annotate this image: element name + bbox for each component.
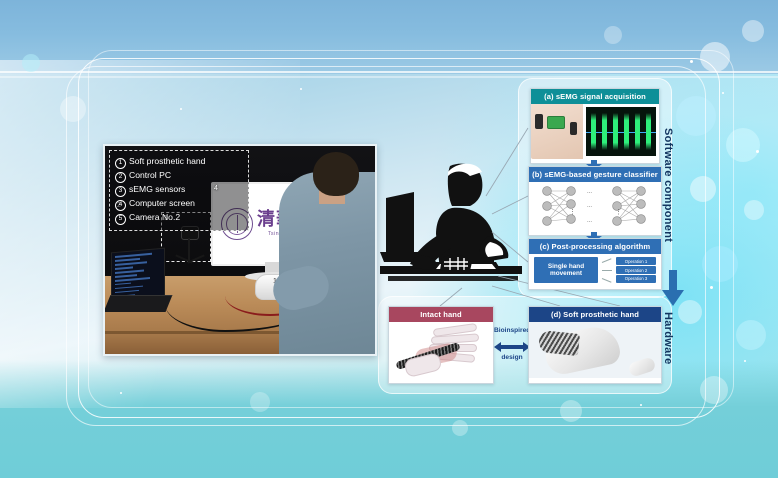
operation-fanout-icon [602, 256, 612, 284]
legend-label: Soft prosthetic hand [129, 155, 205, 167]
software-component-side-label: Software component [662, 128, 674, 242]
legend-item: 5 Camera No.2 [115, 211, 243, 225]
svg-text:⋮: ⋮ [615, 209, 622, 216]
legend-item: 2 Control PC [115, 169, 243, 183]
emg-burst [646, 113, 651, 150]
legend-label: sEMG sensors [129, 183, 185, 195]
palm-bone [403, 352, 442, 378]
legend-number-icon: 5 [115, 214, 126, 225]
neural-network-diagram: ... ... ... ⋮ ⋮ [529, 182, 661, 230]
legend-item: 1 Soft prosthetic hand [115, 155, 243, 169]
bioinspired-line-2: design [501, 354, 522, 361]
panel-c-title: (c) Post-processing algorithm [529, 239, 661, 254]
legend-number-icon: 1 [115, 158, 126, 169]
emg-burst [624, 113, 629, 150]
operation-item: Operation 3 [616, 275, 656, 282]
laptop-keyboard-base [104, 295, 173, 312]
operation-item: Operation 1 [616, 257, 656, 264]
intact-hand-anatomy-image [389, 322, 493, 380]
photo-legend: 1 Soft prosthetic hand 2 Control PC 3 sE… [109, 150, 249, 231]
bioinspired-design-label: Bioinspired [494, 326, 530, 336]
camera-tripod-stem [188, 238, 190, 262]
operation-list: Operation 1 Operation 2 Operation 3 [616, 257, 656, 282]
figure-canvas: 清華大學 Tsinghua University 4 5 [0, 0, 778, 478]
soft-prosthetic-hand-image [529, 322, 661, 378]
user-silhouette-illustration [378, 158, 524, 294]
panel-gesture-classifier: (b) sEMG-based gesture classifier [528, 166, 662, 236]
laptop-code-lines [115, 252, 161, 300]
intact-hand-title: Intact hand [389, 307, 493, 322]
svg-text:...: ... [587, 203, 592, 209]
legend-item: 4 Computer screen [115, 197, 243, 211]
panel-post-processing: (c) Post-processing algorithm Single han… [528, 238, 662, 290]
panel-a-body [531, 104, 659, 159]
panel-b-body: ... ... ... ⋮ ⋮ [529, 182, 661, 230]
laptop-screen [111, 248, 165, 301]
bidirectional-arrow-icon [494, 342, 528, 350]
participant-head [313, 152, 359, 196]
svg-text:...: ... [587, 218, 592, 224]
hardware-side-label: Hardware [662, 312, 674, 365]
panel-c-body: Single hand movement Operation 1 Operati… [529, 254, 661, 286]
experiment-photo: 清華大學 Tsinghua University 4 5 [103, 144, 377, 356]
legend-item: 3 sEMG sensors [115, 183, 243, 197]
control-pc-laptop [107, 250, 169, 312]
single-hand-movement-box: Single hand movement [534, 257, 598, 283]
panel-soft-prosthetic-hand: (d) Soft prosthetic hand [528, 306, 662, 384]
operation-item: Operation 2 [616, 266, 656, 273]
svg-text:⋮: ⋮ [569, 209, 576, 216]
emg-burst [635, 113, 640, 150]
sensor-strap [570, 122, 577, 135]
panel-b-title: (b) sEMG-based gesture classifier [529, 167, 661, 182]
sensor-strap [535, 114, 543, 129]
bioinspired-line-1: Bioinspired [494, 326, 530, 336]
panel-semg-acquisition: (a) sEMG signal acquisition [530, 88, 660, 164]
legend-number-icon: 4 [115, 200, 126, 211]
legend-label: Control PC [129, 169, 171, 181]
panel-intact-hand: Intact hand [388, 306, 494, 384]
legend-label: Camera No.2 [129, 211, 180, 223]
emg-burst [602, 113, 607, 150]
legend-number-icon: 2 [115, 172, 126, 183]
legend-number-icon: 3 [115, 186, 126, 197]
panel-a-title: (a) sEMG signal acquisition [531, 89, 659, 104]
legend-label: Computer screen [129, 197, 195, 209]
arrow-software-to-hardware [662, 270, 684, 306]
photo-marker-screen: 4 [214, 185, 218, 192]
emg-burst [613, 113, 618, 150]
semg-sensor-icon [547, 116, 565, 129]
panel-d-title: (d) Soft prosthetic hand [529, 307, 661, 322]
forearm-with-sensor-image [531, 104, 583, 159]
participant-arm [269, 262, 333, 314]
emg-waveform-plot [586, 107, 656, 156]
soft-hand-actuator-strips [538, 330, 580, 356]
svg-text:...: ... [587, 189, 592, 195]
emg-burst [591, 113, 596, 150]
soft-hand-thumb [627, 356, 656, 377]
bioinspired-line-2-wrap: design [492, 354, 532, 361]
